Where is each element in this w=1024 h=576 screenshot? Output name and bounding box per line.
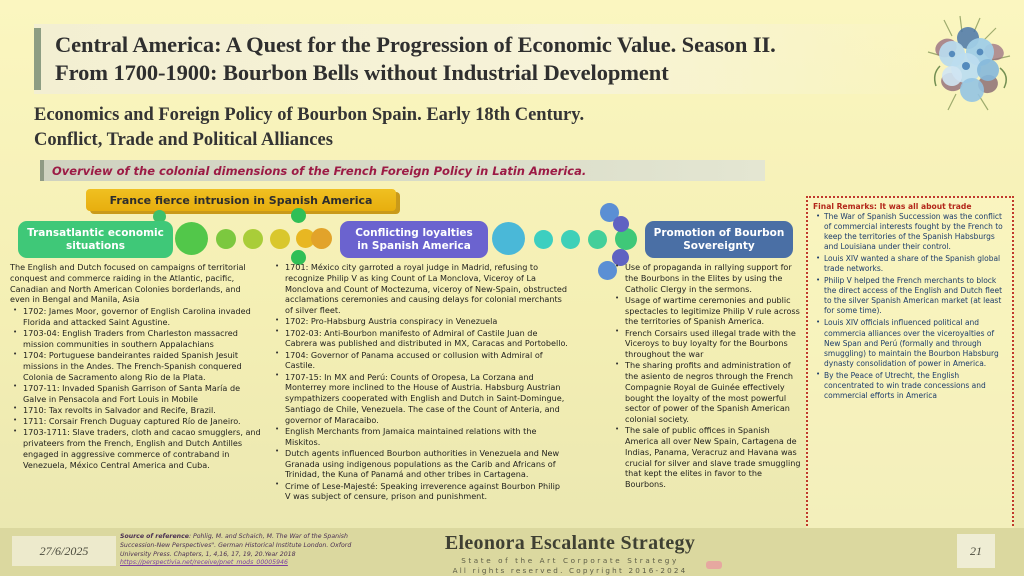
list-item: 1701: México city garroted a royal judge… [284,262,568,316]
reference-label: Source of reference [120,533,189,540]
list-item: By the Peace of Utrecht, the English con… [824,371,1006,401]
decor-dot-green [311,228,332,249]
list-item: 1703-04: English Traders from Charleston… [22,328,262,350]
list-item: 1702: Pro-Habsburg Austria conspiracy in… [284,316,568,327]
column-2-bullet-list: 1701: México city garroted a royal judge… [272,262,568,502]
list-item: Louis XIV wanted a share of the Spanish … [824,254,1006,274]
decor-dot-teal [561,230,580,249]
pill-label: Conflicting loyalties in Spanish America [348,227,480,252]
brand-name: Eleonora Escalante Strategy [370,532,770,555]
content-column-2: 1701: México city garroted a royal judge… [272,262,568,503]
page-title: Central America: A Quest for the Progres… [55,31,776,87]
list-item: 1703-1711: Slave traders, cloth and caca… [22,427,262,470]
flower-bouquet-decoration [922,8,1018,120]
list-item: 1704: Governor of Panama accused or coll… [284,350,568,372]
final-remarks-title: Final Remarks: It was all about trade [813,202,1006,211]
list-item: Usage of wartime ceremonies and public s… [624,295,802,327]
list-item: 1711: Corsair French Duguay captured Río… [22,416,262,427]
slide-title-band: Central America: A Quest for the Progres… [34,24,934,94]
title-line-2: From 1700-1900: Bourbon Bells without In… [55,59,776,87]
content-column-3: Use of propaganda in rallying support fo… [612,262,802,490]
ribbon-banner: France fierce intrusion in Spanish Ameri… [86,189,396,211]
title-line-1: Central America: A Quest for the Progres… [55,31,776,59]
pill-transatlantic-economic-situations[interactable]: Transatlantic economic situations [18,221,173,258]
list-item: English Merchants from Jamaica maintaine… [284,426,568,448]
column-1-lead-text: The English and Dutch focused on campaig… [10,262,262,305]
page-number: 21 [957,534,995,568]
list-item: 1707-11: Invaded Spanish Garrison of San… [22,383,262,405]
pill-label: Promotion of Bourbon Sovereignty [653,227,785,252]
list-item: 1702-03: Anti-Bourbon manifesto of Admir… [284,328,568,350]
footer-date: 27/6/2025 [12,536,116,566]
title-accent-bar [34,28,41,90]
list-item: 1710: Tax revolts in Salvador and Recife… [22,405,262,416]
list-item: 1702: James Moor, governor of English Ca… [22,306,262,328]
list-item: Louis XIV officials influenced political… [824,318,1006,368]
pill-label: Transatlantic economic situations [26,227,165,252]
subtitle-line-1: Economics and Foreign Policy of Bourbon … [34,103,834,128]
list-item: Crime of Lese-Majesté: Speaking irrevere… [284,481,568,503]
list-item: The War of Spanish Succession was the co… [824,212,1006,252]
slide-footer: 27/6/2025 Source of reference: Pohlig, M… [0,528,1024,576]
list-item: Philip V helped the French merchants to … [824,276,1006,316]
pill-conflicting-loyalties[interactable]: Conflicting loyalties in Spanish America [340,221,488,258]
slide-canvas: Central America: A Quest for the Progres… [0,0,1024,576]
list-item: 1704: Portuguese bandeirantes raided Spa… [22,350,262,382]
slide-subtitle: Economics and Foreign Policy of Bourbon … [34,103,834,152]
decor-dot-teal [588,230,607,249]
list-item: Use of propaganda in rallying support fo… [624,262,802,294]
list-item: Dutch agents influenced Bourbon authorit… [284,448,568,480]
decor-dot-blue [613,216,629,232]
footer-reference: Source of reference: Pohlig, M. and Scha… [120,533,368,568]
list-item: French Corsairs used illegal trade with … [624,328,802,360]
overview-text: Overview of the colonial dimensions of t… [52,164,586,178]
decor-dot-teal [492,222,525,255]
list-item: The sale of public offices in Spanish Am… [624,425,802,490]
list-item: 1707-15: In MX and Perú: Counts of Orope… [284,372,568,426]
decor-dot-green [175,222,208,255]
overview-banner: Overview of the colonial dimensions of t… [40,160,765,181]
column-1-bullet-list: 1702: James Moor, governor of English Ca… [10,306,262,470]
decor-dot-green [291,208,306,223]
subtitle-line-2: Conflict, Trade and Political Alliances [34,128,834,153]
list-item: The sharing profits and administration o… [624,360,802,425]
content-column-1: The English and Dutch focused on campaig… [10,262,262,471]
column-3-bullet-list: Use of propaganda in rallying support fo… [612,262,802,490]
ribbon-label: France fierce intrusion in Spanish Ameri… [110,194,373,207]
decor-dot-green [216,229,236,249]
decor-dot-teal [534,230,553,249]
final-remarks-box: Final Remarks: It was all about trade Th… [806,196,1014,530]
overview-accent-bar [40,160,44,181]
reference-link[interactable]: https://perspectivia.net/receive/pnet_mo… [120,559,288,566]
pill-promotion-of-bourbon-sovereignty[interactable]: Promotion of Bourbon Sovereignty [645,221,793,258]
decor-dot-green [243,229,263,249]
highlight-mark [706,561,722,569]
final-remarks-list: The War of Spanish Succession was the co… [813,212,1006,401]
decor-dot-green [270,229,290,249]
